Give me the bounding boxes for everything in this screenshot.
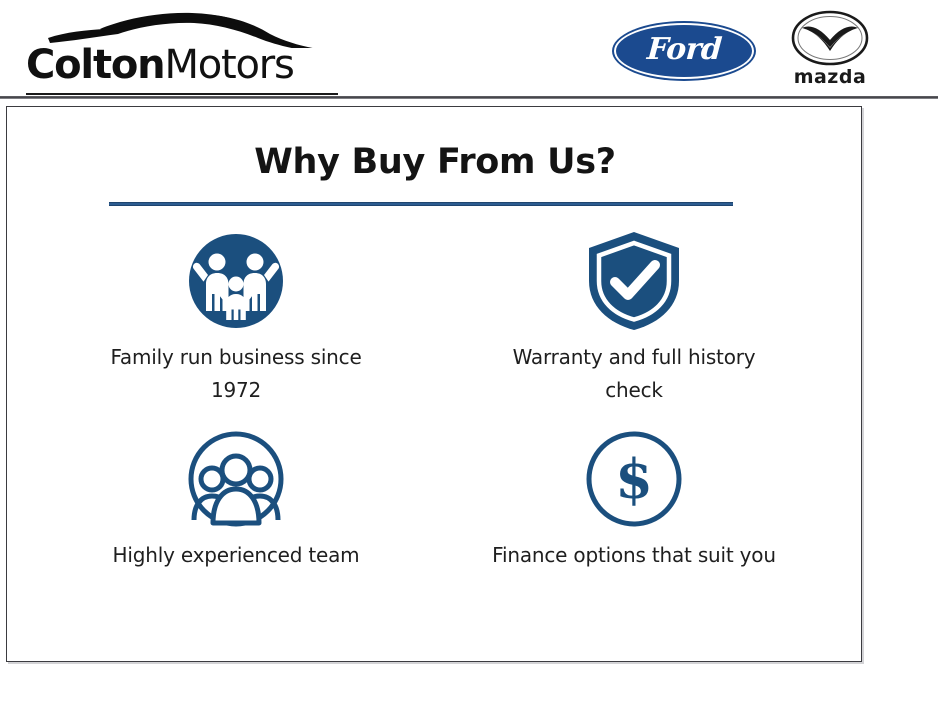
why-buy-card: Why Buy From Us? (6, 106, 862, 662)
ford-oval-icon: Ford (614, 23, 754, 79)
header-divider (0, 96, 938, 99)
page-title: Why Buy From Us? (7, 142, 863, 182)
wordmark-bold: Colton (26, 42, 164, 88)
feature-label: Highly experienced team (91, 539, 381, 572)
title-divider (109, 202, 733, 206)
feature-label: Family run business since 1972 (91, 341, 381, 407)
mazda-wordmark: mazda (786, 66, 874, 88)
feature-grid: Family run business since 1972 Warranty … (37, 229, 833, 625)
group-people-icon (186, 429, 286, 529)
group-icon-wrap (184, 427, 288, 531)
dollar-circle-icon: $ (584, 429, 684, 529)
ford-logo[interactable]: Ford (614, 23, 754, 79)
mazda-logo[interactable]: mazda (786, 10, 874, 92)
brand-header: ColtonMotors Ford mazda (0, 0, 938, 98)
colton-motors-logo[interactable]: ColtonMotors (26, 10, 346, 92)
feature-team[interactable]: Highly experienced team (37, 427, 435, 625)
mazda-emblem-icon (790, 10, 870, 66)
svg-text:$: $ (615, 447, 653, 511)
feature-label: Warranty and full history check (489, 341, 779, 407)
shield-check-icon (584, 229, 684, 333)
family-icon-wrap (184, 229, 288, 333)
family-icon (188, 233, 284, 329)
feature-family[interactable]: Family run business since 1972 (37, 229, 435, 427)
ford-wordmark: Ford (645, 32, 722, 70)
logo-underline (26, 93, 338, 95)
feature-finance[interactable]: $ Finance options that suit you (435, 427, 833, 625)
wordmark-light: Motors (164, 42, 293, 88)
shield-icon-wrap (582, 229, 686, 333)
feature-label: Finance options that suit you (489, 539, 779, 572)
colton-motors-wordmark: ColtonMotors (26, 42, 346, 88)
slide-page: ColtonMotors Ford mazda Why Buy From Us? (0, 0, 938, 704)
dollar-icon-wrap: $ (582, 427, 686, 531)
feature-warranty[interactable]: Warranty and full history check (435, 229, 833, 427)
